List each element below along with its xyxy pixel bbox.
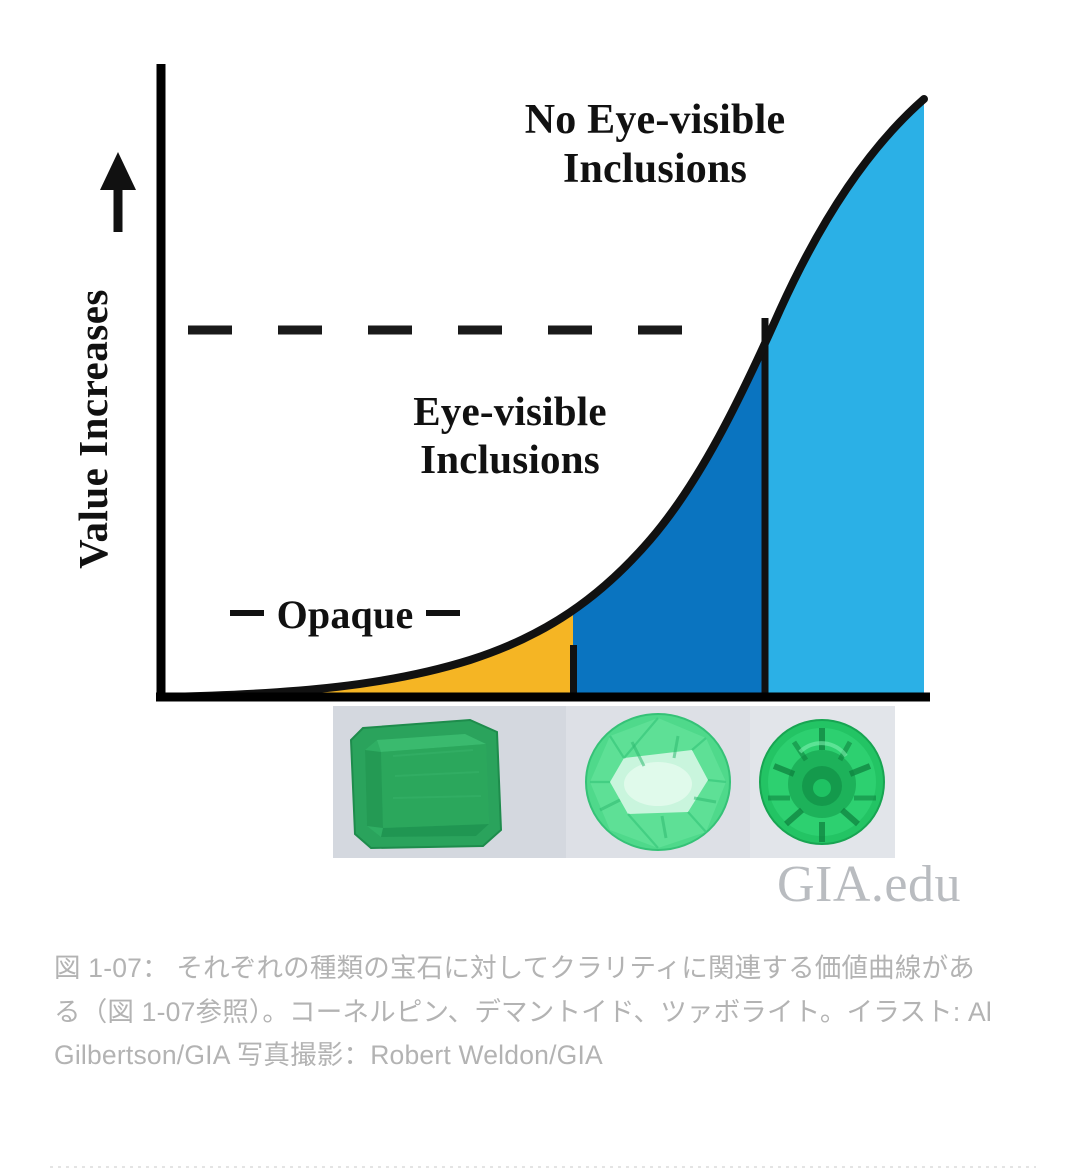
opaque-dash-left: [230, 610, 264, 616]
opaque-dash-right: [426, 610, 460, 616]
figure-caption: 図 1-07： それぞれの種類の宝石に対してクラリティに関連する価値曲線がある（…: [54, 947, 994, 1078]
clarity-value-figure: Value Increases No Eye-visible Inclusion…: [0, 0, 1080, 930]
label-no-eye-visible-inclusions: No Eye-visible Inclusions: [455, 96, 855, 193]
round-cut-gem-icon: [750, 706, 895, 858]
section-divider: [50, 1166, 1036, 1168]
gem-photo-cushion-cut: [566, 706, 750, 858]
cushion-cut-gem-icon: [566, 706, 750, 858]
label-no-eye-line2: Inclusions: [455, 145, 855, 194]
gem-photo-emerald-cut: [333, 706, 566, 858]
label-eye-line1: Eye-visible: [345, 388, 675, 436]
emerald-cut-gem-icon: [333, 706, 566, 858]
label-opaque: Opaque: [180, 592, 510, 638]
label-eye-visible-inclusions: Eye-visible Inclusions: [345, 388, 675, 483]
label-opaque-text: Opaque: [277, 592, 414, 637]
label-no-eye-line1: No Eye-visible: [455, 96, 855, 145]
gia-watermark: GIA.edu: [777, 855, 961, 914]
y-axis-title: Value Increases: [69, 219, 129, 639]
label-eye-line2: Inclusions: [345, 436, 675, 484]
gem-photo-strip: [333, 706, 895, 858]
gem-photo-round-cut: [750, 706, 895, 858]
